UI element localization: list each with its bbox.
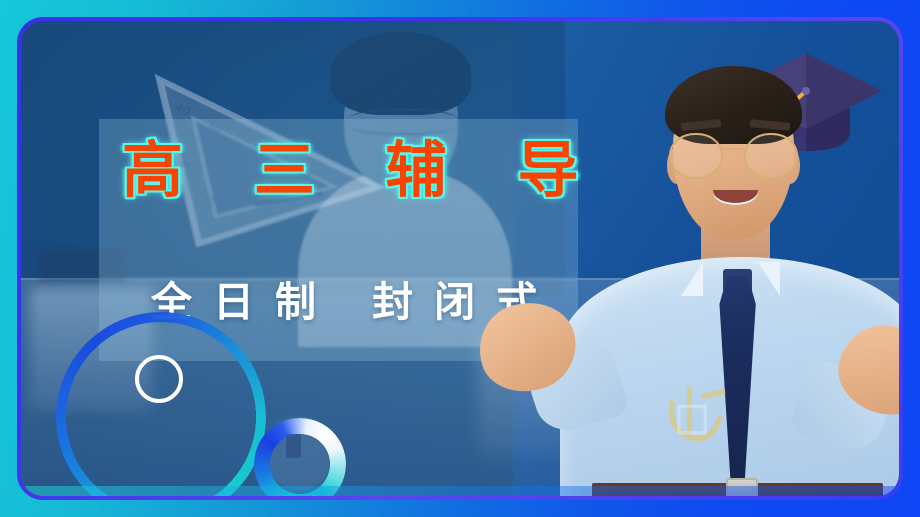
decorative-donut-mark: [286, 434, 301, 458]
glasses-bridge: [723, 148, 744, 150]
subtitle-spacer: [337, 280, 351, 325]
poster-canvas: 40 30 20 10 5 10 5 高 三 辅 导 全 日: [0, 0, 920, 517]
subtitle-char-5: 闭: [434, 280, 475, 325]
title-char-2: 三: [254, 139, 315, 204]
glasses-lens-left: [669, 133, 723, 179]
subtitle-char-3: 制: [275, 280, 316, 325]
bottom-edge-glow: [21, 486, 899, 496]
glasses-lens-right: [744, 133, 798, 179]
subtitle-char-2: 日: [213, 280, 254, 325]
title-char-1: 高: [122, 139, 183, 204]
brand-watermark-logo: [649, 373, 737, 461]
subtitle-char-4: 封: [372, 280, 413, 325]
teacher-glasses: [669, 133, 798, 179]
teacher-collar-left: [681, 262, 703, 296]
teacher-collar-right: [758, 262, 780, 296]
title-char-3: 辅: [386, 139, 447, 204]
page-title: 高 三 辅 导: [122, 139, 579, 204]
poster-content: 40 30 20 10 5 10 5 高 三 辅 导 全 日: [21, 21, 899, 496]
page-subtitle: 全 日 制 封 闭 式: [151, 280, 537, 325]
